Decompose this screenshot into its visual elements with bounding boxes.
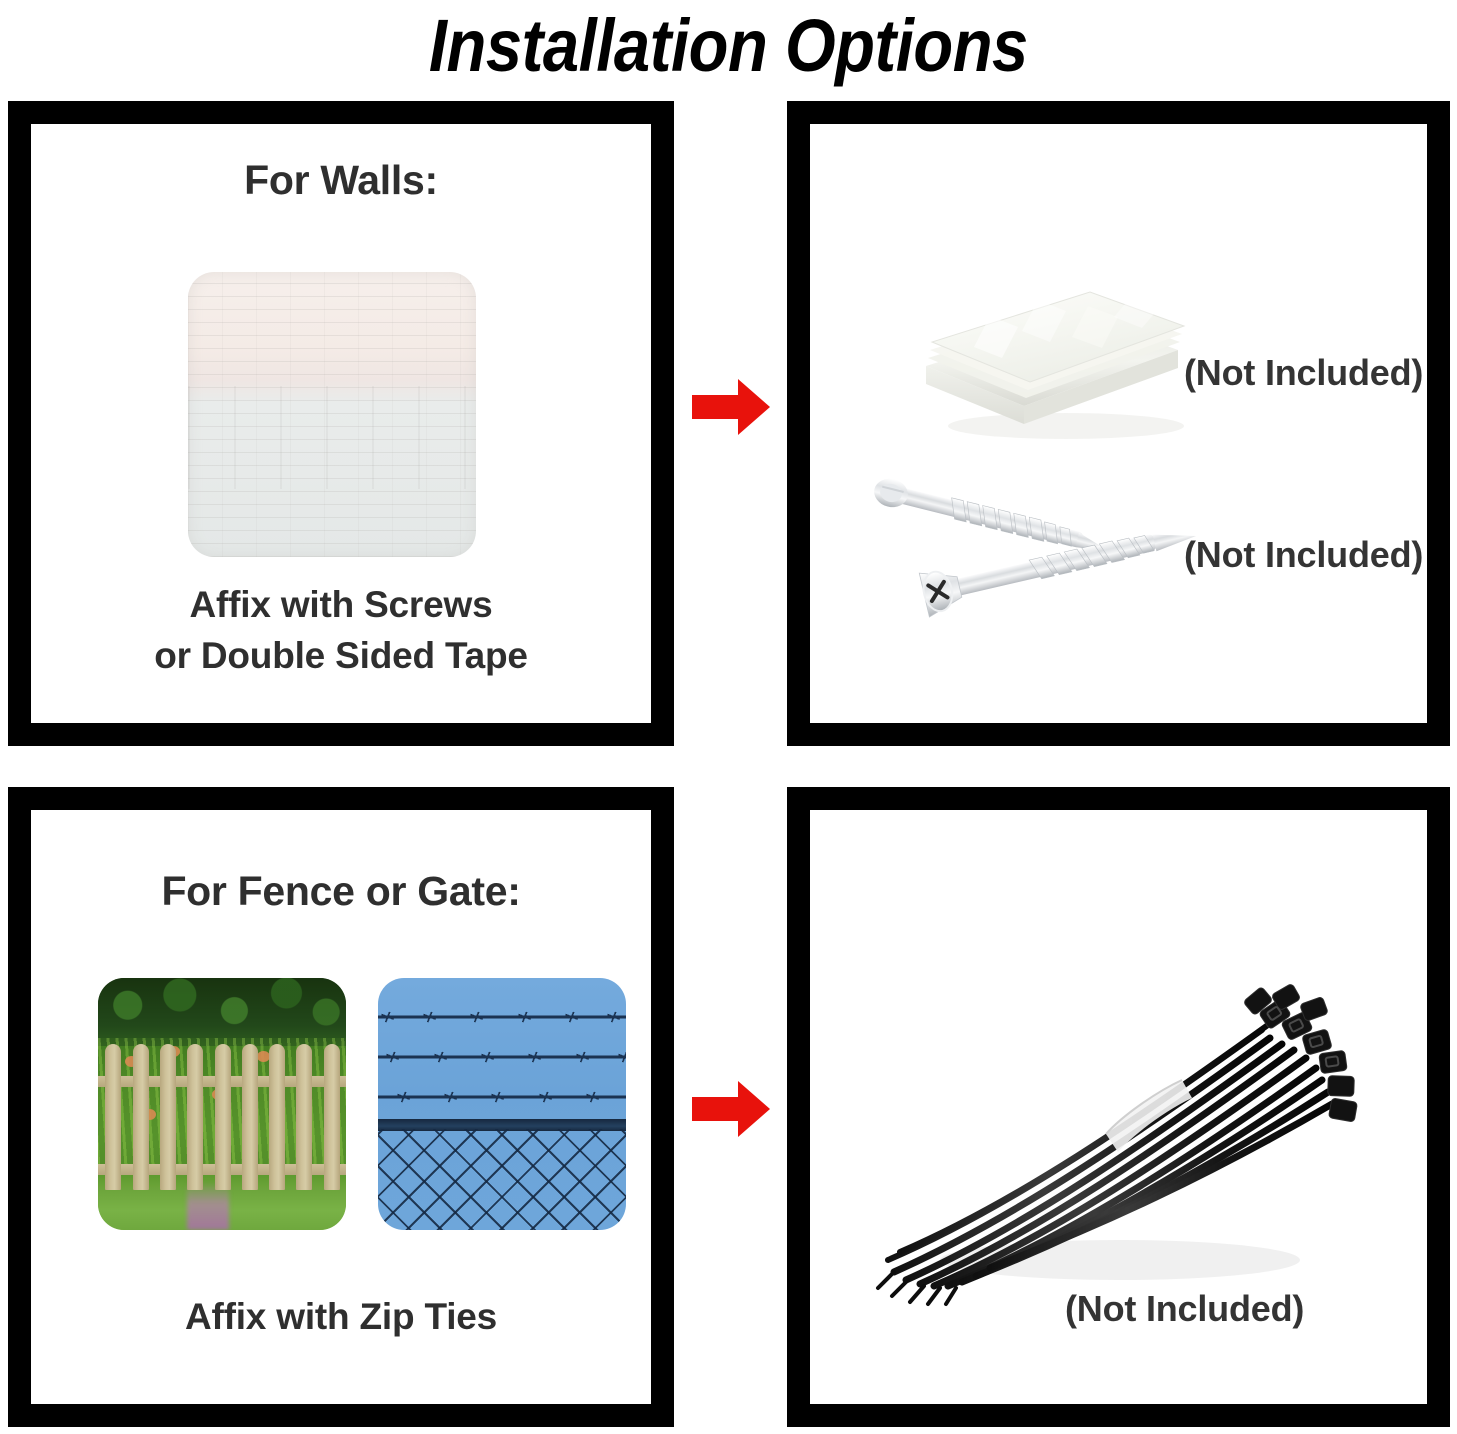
double-sided-tape-stack-icon xyxy=(906,254,1206,444)
silver-wood-screws-icon xyxy=(858,460,1208,645)
black-zip-tie-bundle-icon xyxy=(870,920,1390,1320)
panel-zip-ties: (Not Included) xyxy=(787,787,1450,1427)
panel-wall-hardware: (Not Included) (Not Included) xyxy=(787,101,1450,746)
white-brick-wall-swatch xyxy=(188,272,476,557)
red-right-arrow-icon-top xyxy=(690,377,772,437)
chain-link-fence-barbed-wire-photo xyxy=(378,978,626,1230)
heading-for-walls: For Walls: xyxy=(31,157,651,204)
page-title: Installation Options xyxy=(429,9,1028,83)
panel-for-fence-or-gate: For Fence or Gate: xyxy=(8,787,674,1427)
page-title-bar: Installation Options xyxy=(0,0,1457,92)
tape-not-included-label: (Not Included) xyxy=(1184,352,1423,394)
wooden-picket-fence-photo xyxy=(98,978,346,1230)
ziptie-not-included-label: (Not Included) xyxy=(1065,1288,1304,1330)
caption-line-2: or Double Sided Tape xyxy=(31,630,651,681)
heading-for-fence-or-gate: For Fence or Gate: xyxy=(31,868,651,915)
caption-line-1: Affix with Screws xyxy=(31,579,651,630)
caption-for-walls: Affix with Screws or Double Sided Tape xyxy=(31,579,651,681)
red-right-arrow-icon-bottom xyxy=(690,1079,772,1139)
caption-for-fence-or-gate: Affix with Zip Ties xyxy=(31,1291,651,1342)
screws-not-included-label: (Not Included) xyxy=(1184,534,1423,576)
panel-for-walls: For Walls: Affix with Screws or Double S… xyxy=(8,101,674,746)
